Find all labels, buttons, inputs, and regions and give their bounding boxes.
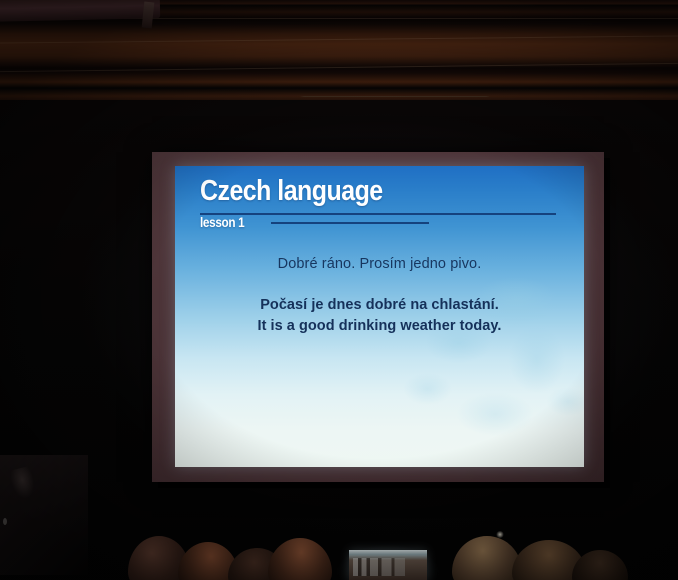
slide-body: Dobré ráno. Prosím jedno pivo. Počasí je… [175,254,584,337]
body-spacer [175,274,584,295]
slide-body-line-1: Dobré ráno. Prosím jedno pivo. [175,254,584,274]
frame-shadow-bottom [158,482,610,488]
ceiling-beams [0,0,678,112]
audience-silhouettes [0,510,678,580]
beam-seam [0,63,678,72]
slide-title: Czech language [200,176,383,206]
slide-body-line-3: It is a good drinking weather today. [175,316,584,337]
pipe-bracket [142,2,155,29]
frame-shadow-right [604,158,610,488]
laptop-screen-content [353,558,405,576]
slide-subtitle: lesson 1 [200,214,244,230]
hair-highlight [496,531,504,538]
projection-screen-frame: Czech language lesson 1 Dobré ráno. Pros… [152,152,604,482]
projected-slide-photo: Czech language lesson 1 Dobré ráno. Pros… [0,0,678,580]
audience-head [572,550,628,580]
laptop-screen [349,550,427,580]
title-rule-short [271,222,429,224]
slide-body-line-2: Počasí je dnes dobré na chlastání. [175,295,584,316]
ceiling-pipe [0,0,160,22]
audience-head [268,538,332,580]
beam-seam [0,35,678,43]
presentation-slide: Czech language lesson 1 Dobré ráno. Pros… [175,166,584,467]
laptop-bezel [349,550,427,555]
title-rule-long [200,213,556,215]
